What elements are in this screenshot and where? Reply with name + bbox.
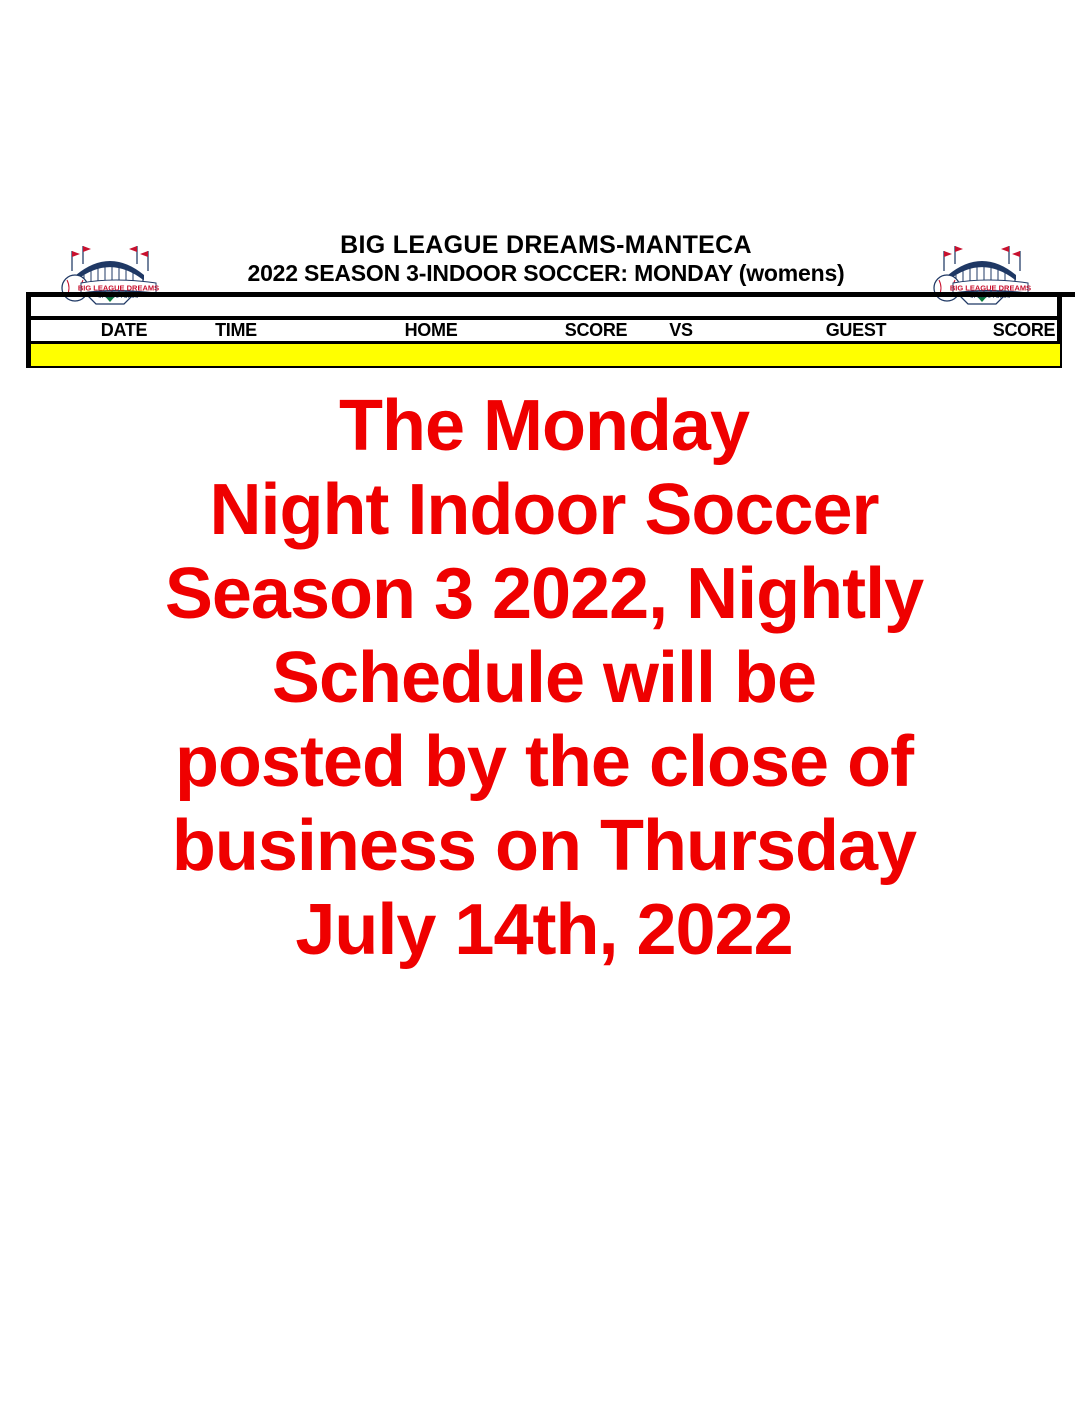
column-header-guest: GUEST bbox=[786, 320, 926, 341]
table-header-row: DATE TIME HOME SCORE VS GUEST SCORE bbox=[31, 320, 1057, 341]
notice-line: business on Thursday bbox=[44, 804, 1044, 888]
column-header-vs: VS bbox=[641, 320, 721, 341]
notice-line: The Monday bbox=[44, 384, 1044, 468]
column-header-home: HOME bbox=[351, 320, 511, 341]
column-header-time: TIME bbox=[181, 320, 291, 341]
schedule-notice: The Monday Night Indoor Soccer Season 3 … bbox=[44, 384, 1044, 972]
column-header-score-guest: SCORE bbox=[969, 320, 1079, 341]
page-title: BIG LEAGUE DREAMS-MANTECA 2022 SEASON 3-… bbox=[190, 232, 902, 285]
notice-line: Schedule will be bbox=[44, 636, 1044, 720]
table-bottom-rule bbox=[26, 366, 1062, 368]
schedule-page: BIG LEAGUE DREAMS SPORTS PARKS bbox=[0, 0, 1088, 1408]
notice-line: July 14th, 2022 bbox=[44, 888, 1044, 972]
column-header-date: DATE bbox=[69, 320, 179, 341]
table-highlight-row bbox=[31, 344, 1060, 366]
notice-line: Night Indoor Soccer bbox=[44, 468, 1044, 552]
notice-line: Season 3 2022, Nightly bbox=[44, 552, 1044, 636]
column-header-score-home: SCORE bbox=[536, 320, 656, 341]
season-subtitle: 2022 SEASON 3-INDOOR SOCCER: MONDAY (wom… bbox=[190, 261, 902, 285]
organization-title: BIG LEAGUE DREAMS-MANTECA bbox=[190, 232, 902, 259]
notice-line: posted by the close of bbox=[44, 720, 1044, 804]
